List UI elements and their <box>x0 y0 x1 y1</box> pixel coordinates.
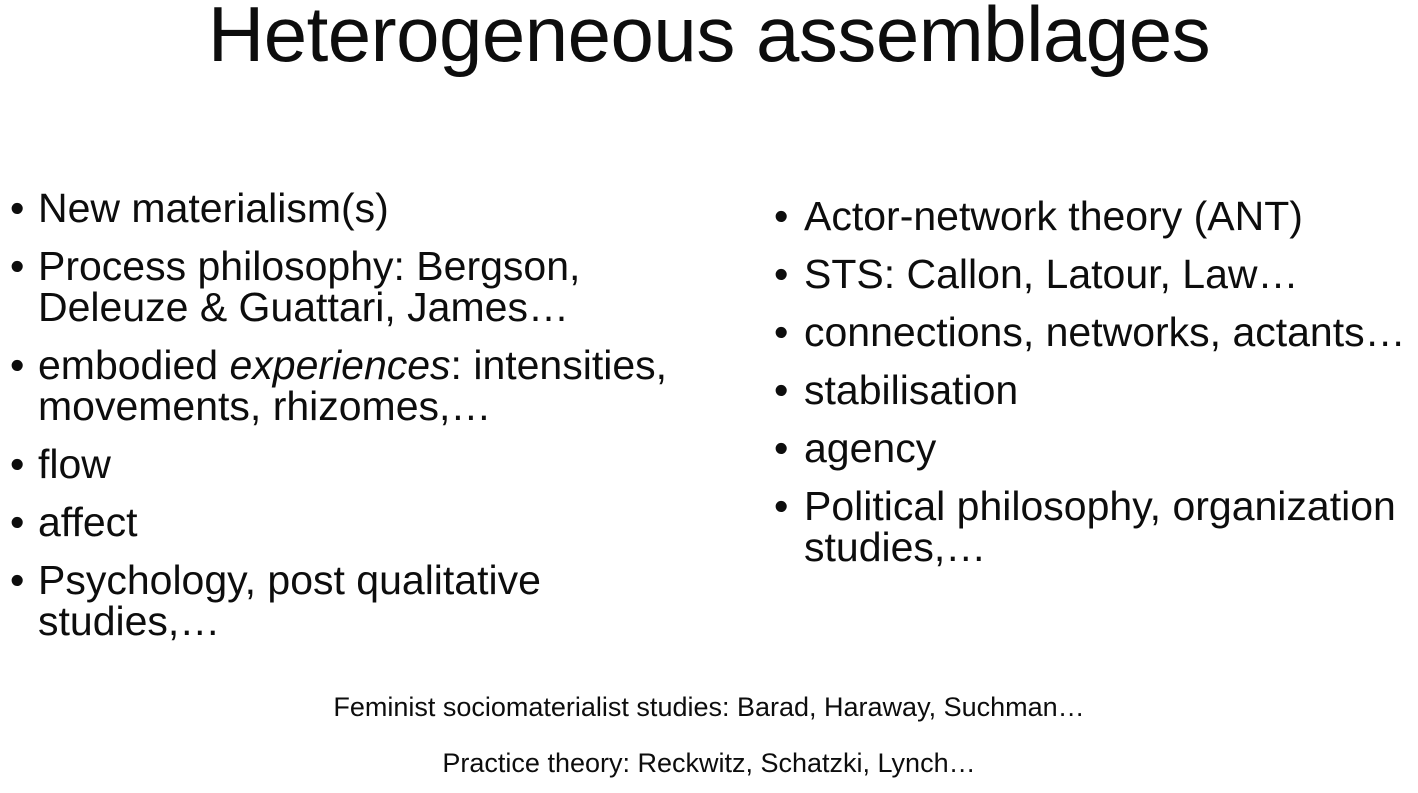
list-item: • flow <box>6 444 706 485</box>
list-item-label: Psychology, post qualitative studies,… <box>38 560 706 642</box>
list-item: • connections, networks, actants… <box>768 312 1418 353</box>
bullet-icon: • <box>774 312 788 353</box>
list-item-label: stabilisation <box>804 370 1418 411</box>
list-item: • Process philosophy: Bergson, Deleuze &… <box>6 246 706 328</box>
list-item-label: New materialism(s) <box>38 188 706 229</box>
right-bullet-list: • Actor-network theory (ANT) • STS: Call… <box>768 196 1418 568</box>
list-item-label: Political philosophy, organization studi… <box>804 486 1418 568</box>
list-item-label: affect <box>38 502 706 543</box>
list-item-label: STS: Callon, Latour, Law… <box>804 254 1418 295</box>
list-item: • Psychology, post qualitative studies,… <box>6 560 706 642</box>
footer-note-line-2: Practice theory: Reckwitz, Schatzki, Lyn… <box>0 750 1418 777</box>
list-item-label-pre: embodied <box>38 342 229 388</box>
list-item-label: Actor-network theory (ANT) <box>804 196 1418 237</box>
list-item: • Political philosophy, organization stu… <box>768 486 1418 568</box>
bullet-icon: • <box>774 428 788 469</box>
list-item: • New materialism(s) <box>6 188 706 229</box>
bullet-icon: • <box>774 254 788 295</box>
bullet-icon: • <box>10 246 24 287</box>
bullet-icon: • <box>774 486 788 527</box>
list-item-label: Process philosophy: Bergson, Deleuze & G… <box>38 246 706 328</box>
list-item: • stabilisation <box>768 370 1418 411</box>
bullet-icon: • <box>10 188 24 229</box>
bullet-icon: • <box>774 196 788 237</box>
list-item-label: embodied experiences: intensities, movem… <box>38 345 706 427</box>
bullet-icon: • <box>10 560 24 601</box>
list-item-label: flow <box>38 444 706 485</box>
list-item: • agency <box>768 428 1418 469</box>
body-content-area: • New materialism(s) • Process philosoph… <box>0 188 1418 668</box>
bullet-icon: • <box>10 502 24 543</box>
left-content-column: • New materialism(s) • Process philosoph… <box>6 188 706 659</box>
bullet-icon: • <box>10 444 24 485</box>
bullet-icon: • <box>10 345 24 386</box>
list-item: • affect <box>6 502 706 543</box>
list-item: • STS: Callon, Latour, Law… <box>768 254 1418 295</box>
bullet-icon: • <box>774 370 788 411</box>
list-item: • embodied experiences: intensities, mov… <box>6 345 706 427</box>
list-item-label-emphasis: experiences <box>229 342 450 388</box>
list-item: • Actor-network theory (ANT) <box>768 196 1418 237</box>
footer-note-line-1: Feminist sociomaterialist studies: Barad… <box>0 694 1418 721</box>
list-item-label: agency <box>804 428 1418 469</box>
right-content-column: • Actor-network theory (ANT) • STS: Call… <box>768 188 1418 585</box>
list-item-label: connections, networks, actants… <box>804 312 1418 353</box>
left-bullet-list: • New materialism(s) • Process philosoph… <box>6 188 706 642</box>
footer-notes: Feminist sociomaterialist studies: Barad… <box>0 694 1418 777</box>
slide-canvas: Heterogeneous assemblages • New material… <box>0 0 1418 793</box>
page-title: Heterogeneous assemblages <box>0 0 1418 76</box>
